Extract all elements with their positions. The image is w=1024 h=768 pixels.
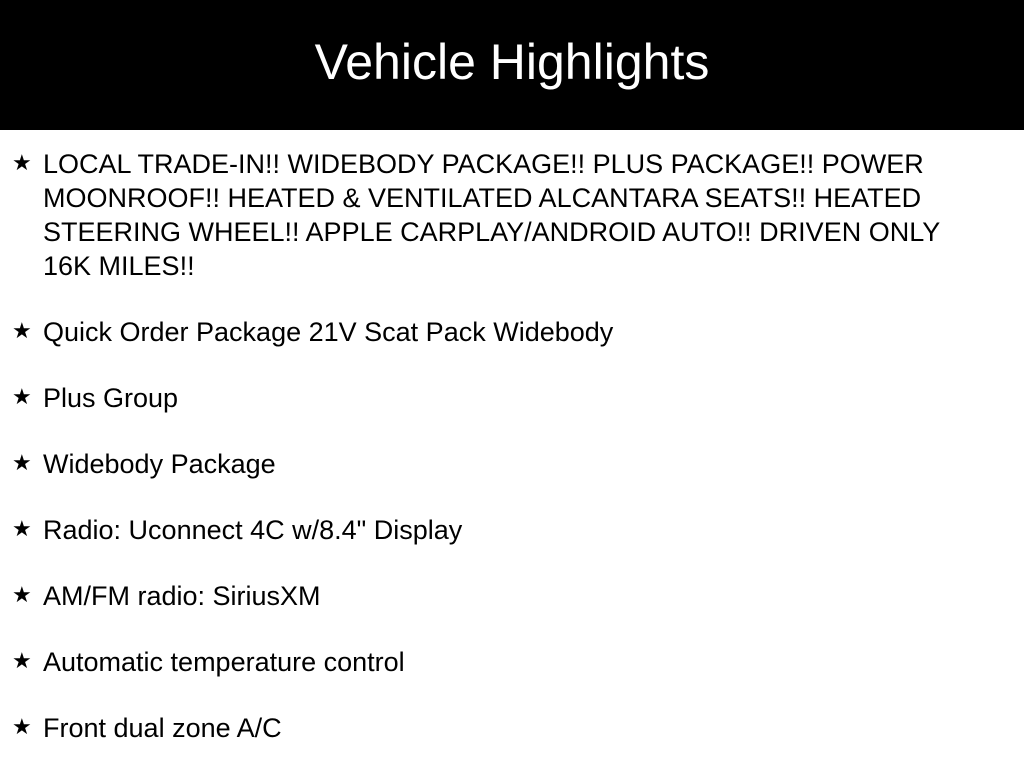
page-title: Vehicle Highlights	[315, 36, 710, 89]
list-item: ★ Plus Group	[0, 381, 1024, 415]
list-item: ★ AM/FM radio: SiriusXM	[0, 579, 1024, 613]
highlight-text: Automatic temperature control	[32, 645, 983, 679]
star-bullet-icon: ★	[12, 147, 32, 181]
star-bullet-icon: ★	[12, 579, 32, 613]
list-item: ★ Widebody Package	[0, 447, 1024, 481]
highlights-list: ★ LOCAL TRADE-IN!! WIDEBODY PACKAGE!! PL…	[0, 130, 1024, 745]
list-item: ★ LOCAL TRADE-IN!! WIDEBODY PACKAGE!! PL…	[0, 147, 1024, 283]
highlight-text: Plus Group	[32, 381, 983, 415]
highlight-text: Quick Order Package 21V Scat Pack Widebo…	[32, 315, 983, 349]
highlight-text: LOCAL TRADE-IN!! WIDEBODY PACKAGE!! PLUS…	[32, 147, 983, 283]
star-bullet-icon: ★	[12, 447, 32, 481]
star-bullet-icon: ★	[12, 645, 32, 679]
list-item: ★ Automatic temperature control	[0, 645, 1024, 679]
star-bullet-icon: ★	[12, 711, 32, 745]
vehicle-highlights-page: Vehicle Highlights ★ LOCAL TRADE-IN!! WI…	[0, 0, 1024, 768]
star-bullet-icon: ★	[12, 381, 32, 415]
star-bullet-icon: ★	[12, 315, 32, 349]
star-bullet-icon: ★	[12, 513, 32, 547]
list-item: ★ Front dual zone A/C	[0, 711, 1024, 745]
page-header-band: Vehicle Highlights	[0, 0, 1024, 130]
highlight-text: Radio: Uconnect 4C w/8.4" Display	[32, 513, 983, 547]
highlight-text: AM/FM radio: SiriusXM	[32, 579, 983, 613]
highlight-text: Front dual zone A/C	[32, 711, 983, 745]
list-item: ★ Quick Order Package 21V Scat Pack Wide…	[0, 315, 1024, 349]
highlight-text: Widebody Package	[32, 447, 983, 481]
list-item: ★ Radio: Uconnect 4C w/8.4" Display	[0, 513, 1024, 547]
